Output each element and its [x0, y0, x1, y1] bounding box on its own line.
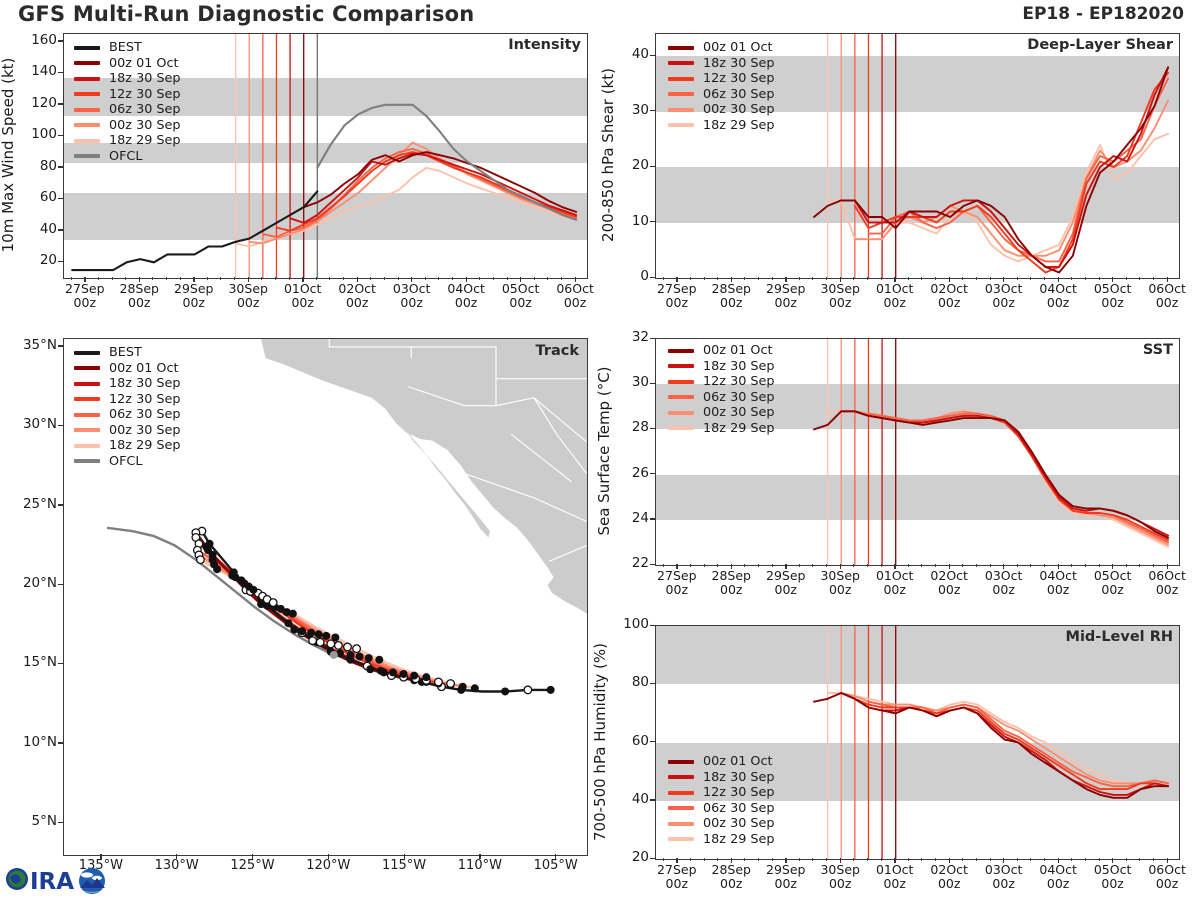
legend-item-12z-30-sep[interactable]: 12z 30 Sep — [668, 71, 775, 87]
legend-label: 06z 30 Sep — [109, 102, 181, 117]
legend-color-swatch — [74, 61, 100, 65]
rh-minor-xtick — [1058, 858, 1059, 861]
legend-item-best[interactable]: BEST — [74, 345, 181, 361]
legend-color-swatch — [668, 411, 694, 415]
xtick-hour: 00z — [883, 295, 905, 310]
shear-legend[interactable]: 00z 01 Oct18z 30 Sep12z 30 Sep06z 30 Sep… — [668, 40, 775, 133]
legend-label: 18z 30 Sep — [109, 376, 181, 391]
rh-ytickmark-60 — [650, 741, 655, 742]
sst-minor-xtick — [853, 564, 854, 567]
legend-label: 00z 01 Oct — [703, 343, 773, 358]
xtick-date: 27Sep — [65, 281, 104, 296]
intensity-minor-xtick — [493, 277, 494, 280]
shear-minor-xtick — [1139, 277, 1140, 280]
legend-item-18z-29-sep[interactable]: 18z 29 Sep — [74, 133, 181, 149]
sst-minor-xtick — [676, 564, 677, 567]
legend-item-18z-29-sep[interactable]: 18z 29 Sep — [668, 832, 775, 848]
rh-ytickmark-80 — [650, 683, 655, 684]
xtick-hour: 00z — [346, 295, 368, 310]
shear-minor-xtick — [1030, 277, 1031, 280]
sst-minor-xtick — [894, 564, 895, 567]
xtick-date: 06Oct — [1148, 568, 1186, 583]
legend-label: 00z 30 Sep — [109, 423, 181, 438]
shear-minor-xtick — [812, 277, 813, 280]
legend-color-swatch — [668, 46, 694, 50]
xtick-date: 28Sep — [712, 281, 751, 296]
intensity-minor-xtick — [112, 277, 113, 280]
track-ytickmark-30 — [58, 425, 63, 426]
rh-ytickmark-40 — [650, 799, 655, 800]
shear-minor-xtick — [990, 277, 991, 280]
sst-minor-xtick — [1044, 564, 1045, 567]
intensity-minor-xtick — [343, 277, 344, 280]
xtick-date: 29Sep — [766, 281, 805, 296]
legend-color-swatch — [668, 92, 694, 96]
legend-color-swatch — [668, 380, 694, 384]
legend-item-00z-30-sep[interactable]: 00z 30 Sep — [668, 816, 775, 832]
legend-item-12z-30-sep[interactable]: 12z 30 Sep — [74, 87, 181, 103]
legend-label: BEST — [109, 345, 142, 360]
xtick-date: 06Oct — [1148, 281, 1186, 296]
shear-minor-xtick — [976, 277, 977, 280]
sst-ytickmark-22 — [650, 564, 655, 565]
shear-minor-xtick — [785, 277, 786, 280]
legend-item-ofcl[interactable]: OFCL — [74, 454, 181, 470]
xtick-date: 06Oct — [556, 281, 594, 296]
legend-item-00z-01-oct[interactable]: 00z 01 Oct — [668, 343, 775, 359]
xtick-hour: 00z — [938, 295, 960, 310]
rh-minor-xtick — [867, 858, 868, 861]
legend-color-swatch — [74, 428, 100, 432]
shear-minor-xtick — [1071, 277, 1072, 280]
sst-minor-xtick — [663, 564, 664, 567]
sst-minor-xtick — [785, 564, 786, 567]
track-xtickmark-125°W — [252, 854, 253, 859]
xtick-hour: 00z — [1156, 295, 1178, 310]
rh-minor-xtick — [1112, 858, 1113, 861]
legend-item-18z-30-sep[interactable]: 18z 30 Sep — [668, 56, 775, 72]
rh-minor-xtick — [772, 858, 773, 861]
rh-minor-xtick — [1044, 858, 1045, 861]
rh-minor-xtick — [990, 858, 991, 861]
xtick-date: 02Oct — [930, 862, 968, 877]
legend-label: 00z 01 Oct — [703, 754, 773, 769]
shear-minor-xtick — [772, 277, 773, 280]
track-ytickmark-10 — [58, 742, 63, 743]
shear-panel[interactable]: Deep-Layer Shear00z 01 Oct18z 30 Sep12z … — [655, 33, 1180, 279]
xtick-date: 28Sep — [712, 568, 751, 583]
legend-color-swatch — [668, 775, 694, 779]
sst-minor-xtick — [1017, 564, 1018, 567]
rh-minor-xtick — [1030, 858, 1031, 861]
shear-ytickmark-40 — [650, 55, 655, 56]
xtick-hour: 00z — [775, 295, 797, 310]
xtick-hour: 00z — [720, 295, 742, 310]
sst-minor-xtick — [1071, 564, 1072, 567]
track-ytickmark-15 — [58, 663, 63, 664]
xtick-hour: 00z — [455, 295, 477, 310]
rh-minor-xtick — [908, 858, 909, 861]
sst-minor-xtick — [990, 564, 991, 567]
sst-minor-xtick — [758, 564, 759, 567]
rh-minor-xtick — [758, 858, 759, 861]
sst-minor-xtick — [1167, 564, 1168, 567]
intensity-minor-xtick — [98, 277, 99, 280]
legend-label: 00z 30 Sep — [703, 405, 775, 420]
rh-ytickmark-20 — [650, 858, 655, 859]
track-xtick-130°W: 130°W — [143, 859, 211, 873]
legend-color-swatch — [668, 123, 694, 127]
track-ytick-5: 5°N — [5, 813, 57, 829]
intensity-minor-xtick — [302, 277, 303, 280]
legend-label: 18z 29 Sep — [109, 133, 181, 148]
shear-ytickmark-30 — [650, 110, 655, 111]
shear-minor-xtick — [935, 277, 936, 280]
legend-item-06z-30-sep[interactable]: 06z 30 Sep — [74, 407, 181, 423]
sst-ytick-24: 24 — [607, 510, 649, 526]
xtick-hour: 00z — [938, 876, 960, 891]
sst-minor-xtick — [1003, 564, 1004, 567]
shear-minor-xtick — [1017, 277, 1018, 280]
sst-minor-xtick — [812, 564, 813, 567]
shear-ytickmark-20 — [650, 166, 655, 167]
xtick-date: 04Oct — [1039, 568, 1077, 583]
xtick-date: 05Oct — [502, 281, 540, 296]
intensity-ytick-80: 80 — [15, 158, 57, 174]
rh-ytick-40: 40 — [607, 791, 649, 807]
rh-minor-xtick — [881, 858, 882, 861]
rh-minor-xtick — [826, 858, 827, 861]
track-ytick-25: 25°N — [5, 496, 57, 512]
xtick-hour: 00z — [74, 295, 96, 310]
shear-minor-xtick — [758, 277, 759, 280]
legend-item-00z-30-sep[interactable]: 00z 30 Sep — [668, 102, 775, 118]
shear-minor-xtick — [690, 277, 691, 280]
sst-minor-xtick — [826, 564, 827, 567]
xtick-hour: 00z — [992, 295, 1014, 310]
legend-color-swatch — [74, 92, 100, 96]
legend-item-18z-29-sep[interactable]: 18z 29 Sep — [668, 421, 775, 437]
xtick-hour: 00z — [1101, 582, 1123, 597]
xtick-hour: 00z — [720, 876, 742, 891]
rh-minor-xtick — [1139, 858, 1140, 861]
page-title: GFS Multi-Run Diagnostic Comparison — [18, 2, 474, 26]
rh-minor-xtick — [921, 858, 922, 861]
legend-label: 00z 30 Sep — [703, 816, 775, 831]
legend-color-swatch — [74, 139, 100, 143]
xtick-date: 01Oct — [284, 281, 322, 296]
intensity-ytick-160: 160 — [15, 32, 57, 48]
rh-minor-xtick — [1126, 858, 1127, 861]
xtick-hour: 00z — [829, 876, 851, 891]
shear-minor-xtick — [1167, 277, 1168, 280]
legend-item-18z-30-sep[interactable]: 18z 30 Sep — [74, 376, 181, 392]
intensity-minor-xtick — [384, 277, 385, 280]
shear-minor-xtick — [1099, 277, 1100, 280]
legend-item-12z-30-sep[interactable]: 12z 30 Sep — [668, 785, 775, 801]
shear-minor-xtick — [1058, 277, 1059, 280]
legend-item-18z-29-sep[interactable]: 18z 29 Sep — [668, 118, 775, 134]
intensity-panel[interactable]: IntensityBEST00z 01 Oct18z 30 Sep12z 30 … — [63, 33, 588, 279]
legend-label: 12z 30 Sep — [109, 87, 181, 102]
legend-item-00z-01-oct[interactable]: 00z 01 Oct — [74, 56, 181, 72]
intensity-minor-xtick — [520, 277, 521, 280]
legend-label: 18z 30 Sep — [703, 56, 775, 71]
xtick-date: 06Oct — [1148, 862, 1186, 877]
track-xtick-115°W: 115°W — [370, 859, 438, 873]
legend-color-swatch — [668, 77, 694, 81]
rh-ytick-60: 60 — [607, 733, 649, 749]
xtick-date: 01Oct — [876, 281, 914, 296]
intensity-ytickmark-20 — [58, 261, 63, 262]
xtick-hour: 00z — [1156, 582, 1178, 597]
intensity-minor-xtick — [411, 277, 412, 280]
track-xtick-110°W: 110°W — [446, 859, 514, 873]
track-ytickmark-35 — [58, 345, 63, 346]
legend-label: 18z 29 Sep — [703, 118, 775, 133]
track-ytickmark-25 — [58, 504, 63, 505]
intensity-legend[interactable]: BEST00z 01 Oct18z 30 Sep12z 30 Sep06z 30… — [74, 40, 181, 164]
legend-label: 18z 29 Sep — [109, 438, 181, 453]
sst-ytickmark-24 — [650, 518, 655, 519]
legend-item-00z-30-sep[interactable]: 00z 30 Sep — [668, 405, 775, 421]
legend-color-swatch — [668, 349, 694, 353]
xtick-date: 30Sep — [820, 568, 859, 583]
rh-minor-xtick — [663, 858, 664, 861]
legend-color-swatch — [668, 61, 694, 65]
rh-minor-xtick — [935, 858, 936, 861]
rh-minor-xtick — [690, 858, 691, 861]
xtick-hour: 00z — [183, 295, 205, 310]
legend-item-00z-30-sep[interactable]: 00z 30 Sep — [74, 423, 181, 439]
track-ytick-15: 15°N — [5, 654, 57, 670]
rh-minor-xtick — [949, 858, 950, 861]
legend-label: 12z 30 Sep — [703, 71, 775, 86]
sst-minor-xtick — [744, 564, 745, 567]
track-panel[interactable]: TrackBEST00z 01 Oct18z 30 Sep12z 30 Sep0… — [63, 338, 588, 856]
track-xtickmark-115°W — [404, 854, 405, 859]
legend-item-00z-30-sep[interactable]: 00z 30 Sep — [74, 118, 181, 134]
legend-item-18z-30-sep[interactable]: 18z 30 Sep — [668, 359, 775, 375]
legend-item-00z-01-oct[interactable]: 00z 01 Oct — [668, 40, 775, 56]
legend-label: 06z 30 Sep — [703, 87, 775, 102]
cira-logo: IRA — [4, 857, 120, 899]
sst-panel-title: SST — [1143, 342, 1173, 358]
xtick-hour: 00z — [1101, 876, 1123, 891]
xtick-hour: 00z — [775, 876, 797, 891]
shear-ylabel: 200-850 hPa Shear (kt) — [599, 68, 617, 242]
intensity-minor-xtick — [479, 277, 480, 280]
intensity-ylabel: 10m Max Wind Speed (kt) — [0, 58, 17, 253]
xtick-date: 29Sep — [766, 862, 805, 877]
shear-minor-xtick — [921, 277, 922, 280]
legend-label: 00z 01 Oct — [703, 40, 773, 55]
shear-minor-xtick — [717, 277, 718, 280]
track-xtick-120°W: 120°W — [294, 859, 362, 873]
intensity-minor-xtick — [370, 277, 371, 280]
xtick-date: 29Sep — [766, 568, 805, 583]
xtick-date: 27Sep — [657, 281, 696, 296]
rh-legend[interactable]: 00z 01 Oct18z 30 Sep12z 30 Sep06z 30 Sep… — [668, 754, 775, 847]
shear-minor-xtick — [1044, 277, 1045, 280]
rh-minor-xtick — [853, 858, 854, 861]
xtick-date: 03Oct — [985, 862, 1023, 877]
storm-id-label: EP18 - EP182020 — [1022, 4, 1184, 24]
xtick-date: 05Oct — [1094, 568, 1132, 583]
sst-ylabel: Sea Surface Temp (°C) — [595, 366, 613, 535]
xtick-date: 28Sep — [712, 862, 751, 877]
intensity-minor-xtick — [71, 277, 72, 280]
shear-minor-xtick — [1085, 277, 1086, 280]
rh-minor-xtick — [976, 858, 977, 861]
legend-label: BEST — [109, 40, 142, 55]
shear-minor-xtick — [867, 277, 868, 280]
legend-item-18z-30-sep[interactable]: 18z 30 Sep — [74, 71, 181, 87]
legend-color-swatch — [74, 108, 100, 112]
legend-color-swatch — [74, 459, 100, 463]
legend-color-swatch — [74, 46, 100, 50]
sst-xtick-06Oct: 06Oct 00z — [1133, 569, 1200, 597]
legend-color-swatch — [74, 397, 100, 401]
legend-label: 06z 30 Sep — [703, 801, 775, 816]
legend-item-06z-30-sep[interactable]: 06z 30 Sep — [74, 102, 181, 118]
legend-item-00z-01-oct[interactable]: 00z 01 Oct — [74, 361, 181, 377]
track-legend[interactable]: BEST00z 01 Oct18z 30 Sep12z 30 Sep06z 30… — [74, 345, 181, 469]
legend-item-ofcl[interactable]: OFCL — [74, 149, 181, 165]
legend-color-swatch — [668, 791, 694, 795]
xtick-hour: 00z — [237, 295, 259, 310]
xtick-date: 04Oct — [447, 281, 485, 296]
intensity-minor-xtick — [166, 277, 167, 280]
rh-minor-xtick — [704, 858, 705, 861]
sst-ytick-26: 26 — [607, 465, 649, 481]
legend-color-swatch — [74, 351, 100, 355]
legend-label: 18z 30 Sep — [109, 71, 181, 86]
shear-minor-xtick — [826, 277, 827, 280]
sst-minor-xtick — [1126, 564, 1127, 567]
sst-ytick-32: 32 — [607, 329, 649, 345]
intensity-panel-title: Intensity — [508, 37, 581, 53]
intensity-minor-xtick — [248, 277, 249, 280]
xtick-date: 01Oct — [876, 862, 914, 877]
rh-minor-xtick — [1099, 858, 1100, 861]
intensity-minor-xtick — [234, 277, 235, 280]
rh-ytick-80: 80 — [607, 674, 649, 690]
track-ytick-35: 35°N — [5, 337, 57, 353]
shear-minor-xtick — [744, 277, 745, 280]
legend-color-swatch — [668, 760, 694, 764]
xtick-hour: 00z — [1047, 876, 1069, 891]
legend-item-12z-30-sep[interactable]: 12z 30 Sep — [668, 374, 775, 390]
sst-legend[interactable]: 00z 01 Oct18z 30 Sep12z 30 Sep06z 30 Sep… — [668, 343, 775, 436]
legend-color-swatch — [74, 382, 100, 386]
xtick-hour: 00z — [883, 582, 905, 597]
sst-minor-xtick — [1030, 564, 1031, 567]
sst-minor-xtick — [867, 564, 868, 567]
intensity-minor-xtick — [152, 277, 153, 280]
legend-color-swatch — [74, 413, 100, 417]
shear-minor-xtick — [962, 277, 963, 280]
legend-label: 00z 30 Sep — [109, 118, 181, 133]
intensity-ytickmark-120 — [58, 103, 63, 104]
legend-item-18z-30-sep[interactable]: 18z 30 Sep — [668, 770, 775, 786]
legend-item-06z-30-sep[interactable]: 06z 30 Sep — [668, 801, 775, 817]
intensity-minor-xtick — [261, 277, 262, 280]
shear-minor-xtick — [663, 277, 664, 280]
intensity-minor-xtick — [357, 277, 358, 280]
intensity-ytickmark-160 — [58, 40, 63, 41]
intensity-ytick-20: 20 — [15, 252, 57, 268]
legend-label: 12z 30 Sep — [109, 392, 181, 407]
legend-label: OFCL — [109, 149, 143, 164]
intensity-minor-xtick — [84, 277, 85, 280]
rh-minor-xtick — [744, 858, 745, 861]
legend-item-06z-30-sep[interactable]: 06z 30 Sep — [668, 390, 775, 406]
intensity-minor-xtick — [329, 277, 330, 280]
xtick-hour: 00z — [720, 582, 742, 597]
rh-ytick-100: 100 — [607, 616, 649, 632]
intensity-minor-xtick — [575, 277, 576, 280]
legend-item-18z-29-sep[interactable]: 18z 29 Sep — [74, 438, 181, 454]
intensity-ytickmark-80 — [58, 166, 63, 167]
legend-label: 00z 30 Sep — [703, 102, 775, 117]
sst-ytickmark-28 — [650, 428, 655, 429]
rh-panel[interactable]: Mid-Level RH00z 01 Oct18z 30 Sep12z 30 S… — [655, 625, 1180, 860]
shear-minor-xtick — [704, 277, 705, 280]
xtick-date: 04Oct — [1039, 862, 1077, 877]
xtick-hour: 00z — [992, 876, 1014, 891]
rh-minor-xtick — [1085, 858, 1086, 861]
intensity-minor-xtick — [507, 277, 508, 280]
xtick-hour: 00z — [1047, 582, 1069, 597]
shear-xtick-06Oct: 06Oct 00z — [1133, 282, 1200, 310]
rh-minor-xtick — [1153, 858, 1154, 861]
legend-label: 18z 30 Sep — [703, 359, 775, 374]
sst-minor-xtick — [935, 564, 936, 567]
legend-color-swatch — [668, 806, 694, 810]
rh-minor-xtick — [840, 858, 841, 861]
xtick-hour: 00z — [666, 295, 688, 310]
sst-panel[interactable]: SST00z 01 Oct18z 30 Sep12z 30 Sep06z 30 … — [655, 338, 1180, 566]
intensity-minor-xtick — [180, 277, 181, 280]
legend-color-swatch — [668, 395, 694, 399]
sst-minor-xtick — [921, 564, 922, 567]
intensity-ytickmark-40 — [58, 229, 63, 230]
xtick-date: 28Sep — [120, 281, 159, 296]
xtick-date: 01Oct — [876, 568, 914, 583]
xtick-hour: 00z — [1047, 295, 1069, 310]
shear-minor-xtick — [1126, 277, 1127, 280]
legend-label: 00z 01 Oct — [109, 56, 179, 71]
legend-item-12z-30-sep[interactable]: 12z 30 Sep — [74, 392, 181, 408]
rh-minor-xtick — [799, 858, 800, 861]
legend-label: 00z 01 Oct — [109, 361, 179, 376]
shear-minor-xtick — [853, 277, 854, 280]
xtick-hour: 00z — [1101, 295, 1123, 310]
xtick-date: 29Sep — [174, 281, 213, 296]
legend-item-00z-01-oct[interactable]: 00z 01 Oct — [668, 754, 775, 770]
sst-minor-xtick — [717, 564, 718, 567]
rh-panel-title: Mid-Level RH — [1066, 629, 1173, 645]
xtick-date: 02Oct — [930, 568, 968, 583]
intensity-ytick-100: 100 — [15, 126, 57, 142]
legend-item-best[interactable]: BEST — [74, 40, 181, 56]
shear-panel-title: Deep-Layer Shear — [1027, 37, 1173, 53]
intensity-minor-xtick — [289, 277, 290, 280]
legend-item-06z-30-sep[interactable]: 06z 30 Sep — [668, 87, 775, 103]
sst-minor-xtick — [840, 564, 841, 567]
shear-minor-xtick — [840, 277, 841, 280]
